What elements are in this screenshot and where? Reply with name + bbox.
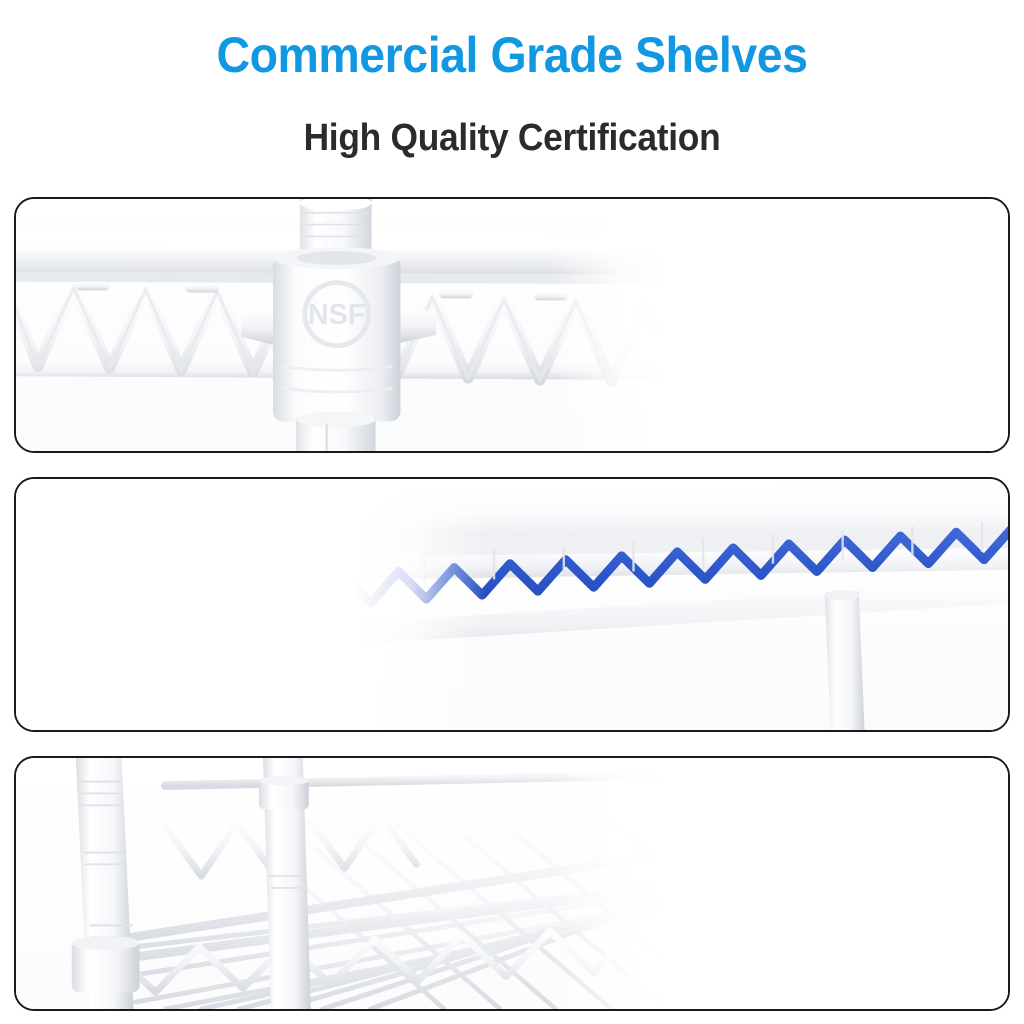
nsf-collar-shelf-photo: NSF — [16, 199, 1008, 451]
page-title: Commercial Grade Shelves — [36, 26, 988, 84]
commercial-grade-wire-shelf-photo — [16, 758, 1008, 1009]
feature-panel-nsf-certity: NSF NSF CERTITITY Taper — [14, 197, 1010, 453]
product-infographic: Commercial Grade Shelves High Quality Ce… — [0, 0, 1024, 1024]
nsf-emboss-label: NSF — [308, 299, 366, 331]
v-shaped-mesh-shelf-photo — [16, 479, 1008, 730]
page-subtitle: High Quality Certification — [36, 117, 988, 160]
feature-panel-commercial-grade-wire: COMMERCIAL GRADE WIRE The high-strength … — [14, 756, 1010, 1011]
feature-panel-v-shaped: V-SHAPED High load bearing design with V… — [14, 477, 1010, 732]
